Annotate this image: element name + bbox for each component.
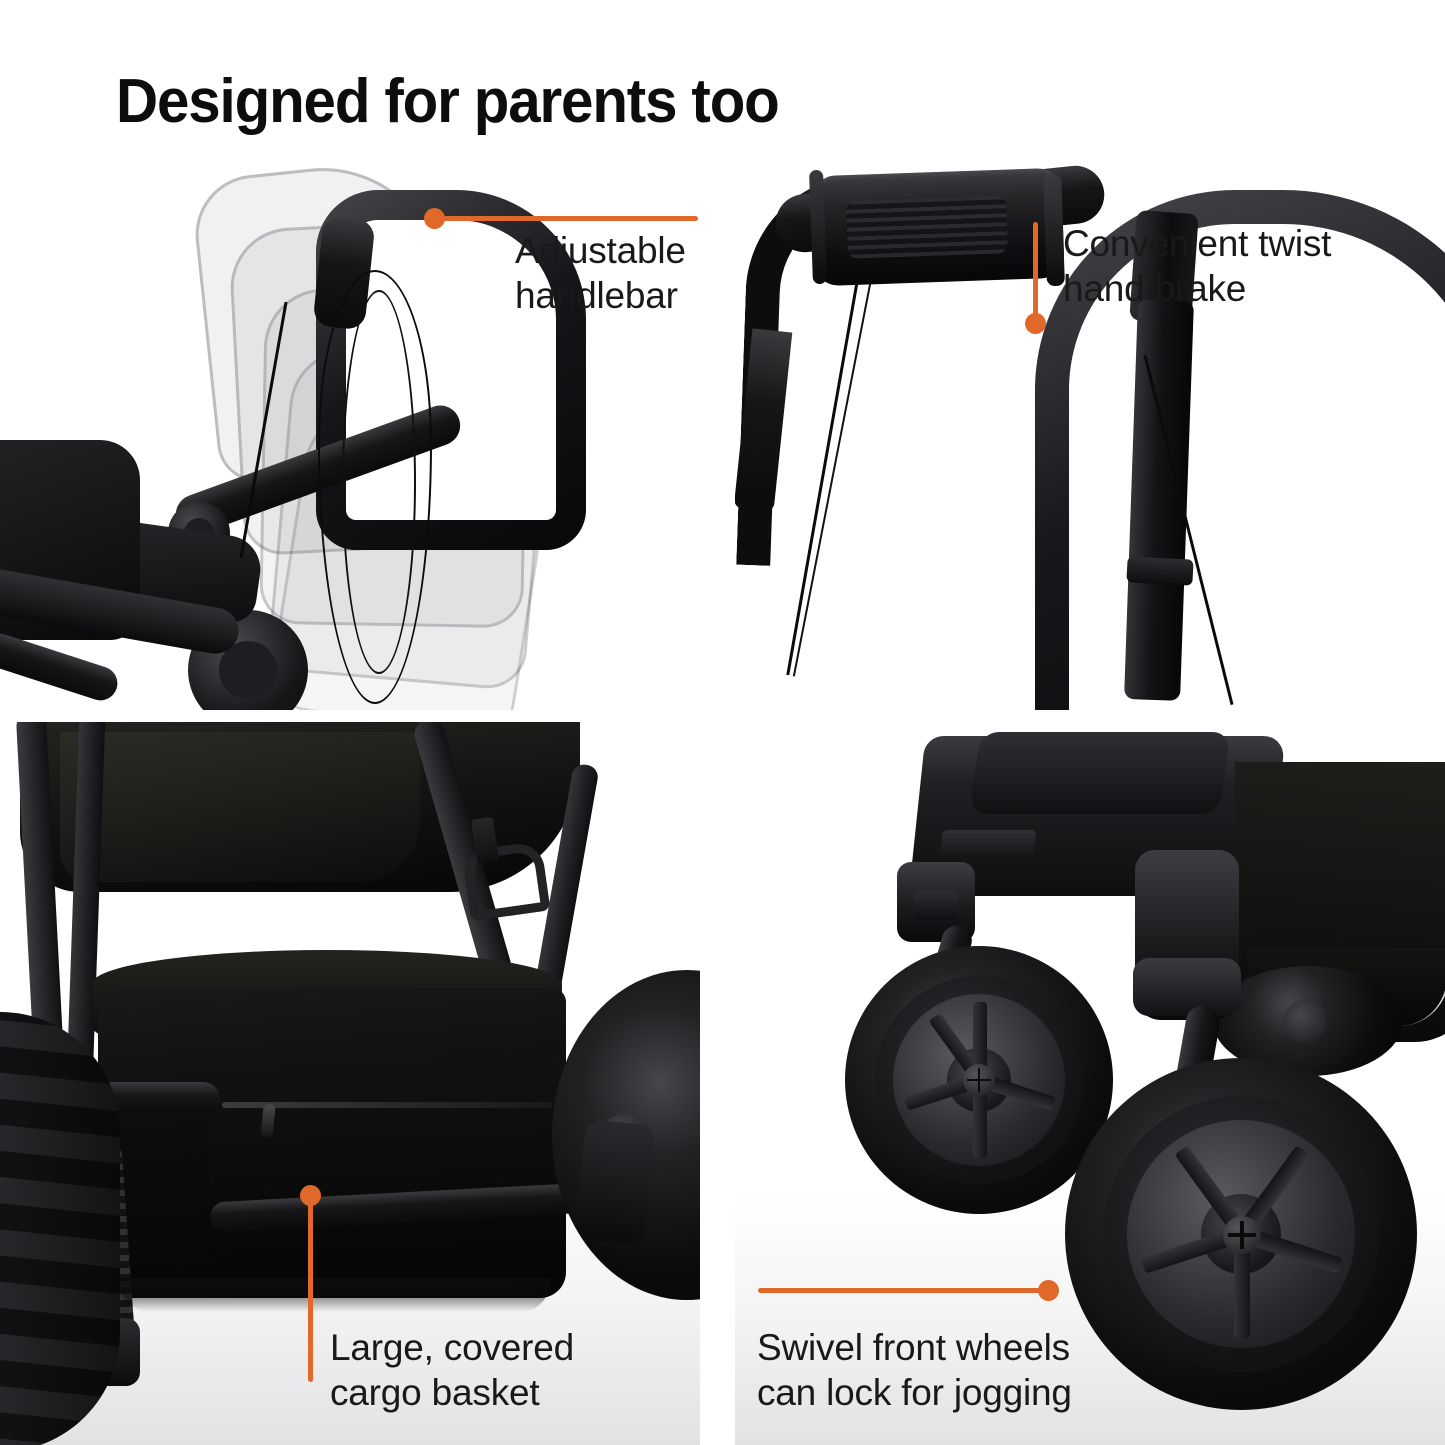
page-title: Designed for parents too xyxy=(116,66,779,137)
callout-line-twist-hand-brake xyxy=(1033,222,1038,322)
front-wheel-left-axle-screw xyxy=(963,1064,995,1096)
callout-dot-swivel-wheels xyxy=(1038,1280,1059,1301)
twist-grip-ribs xyxy=(846,195,1008,259)
infographic-canvas: Designed for parents too Adjustable hand… xyxy=(0,0,1445,1445)
footrest-brand-plate xyxy=(940,830,1037,858)
frame-caliper-right xyxy=(574,1119,656,1246)
rear-tire-left-shadow xyxy=(0,1012,120,1445)
callout-dot-twist-hand-brake xyxy=(1025,313,1046,334)
basket-base-shadow xyxy=(120,1278,550,1312)
strap-band xyxy=(1126,556,1193,585)
cargo-basket-front-face xyxy=(210,1058,562,1282)
twist-grip-collar-right xyxy=(1043,174,1065,287)
swivel-lock-ring-right xyxy=(1133,958,1241,1016)
front-wheel-right-axle-screw xyxy=(1223,1216,1261,1254)
callout-label-twist-hand-brake: Convenient twist hand brake xyxy=(1063,221,1331,311)
swivel-lock-button-left xyxy=(913,890,959,920)
frame-foot-tube xyxy=(0,629,122,705)
callout-line-swivel-wheels xyxy=(758,1288,1044,1293)
callout-label-swivel-wheels: Swivel front wheels can lock for jogging xyxy=(757,1325,1072,1415)
seat-fabric-panel xyxy=(60,732,420,882)
footrest-inner-tray xyxy=(969,732,1231,814)
callout-label-cargo-basket: Large, covered cargo basket xyxy=(330,1325,574,1415)
callout-line-cargo-basket xyxy=(308,1196,313,1382)
brake-cable-loop-inner xyxy=(342,290,416,674)
callout-label-adjustable-handlebar: Adjustable handlebar xyxy=(515,228,686,318)
rear-wheel-hub-bg xyxy=(1283,1000,1327,1044)
callout-line-adjustable-handlebar xyxy=(432,216,698,221)
